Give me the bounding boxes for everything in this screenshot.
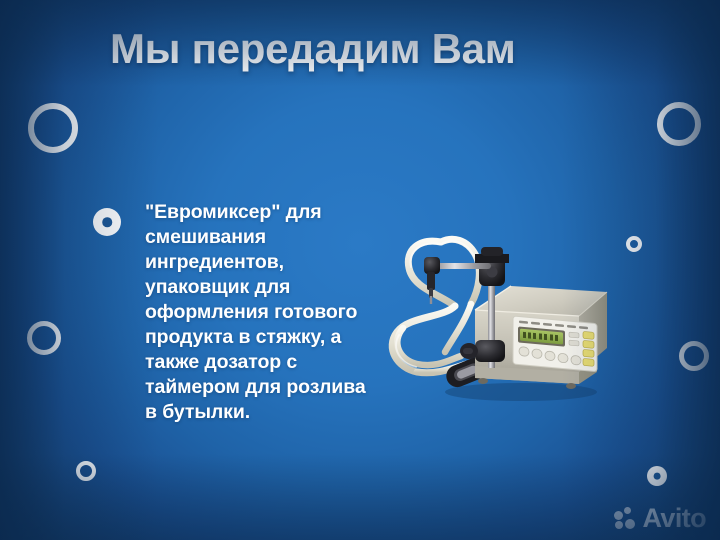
avito-wordmark: Avito xyxy=(643,505,707,532)
ring-right-middle-icon xyxy=(679,341,709,371)
ring-right-small-icon xyxy=(626,236,642,252)
bullet-dot-icon xyxy=(93,208,121,236)
ring-top-right-icon xyxy=(657,102,701,146)
avito-watermark: Avito xyxy=(614,505,707,532)
liquid-filling-machine-image xyxy=(383,232,608,410)
avito-listing-banner: Мы передадим Вам "Евромиксер" для смешив… xyxy=(0,0,720,540)
machine-illustration xyxy=(383,232,608,410)
control-panel[interactable] xyxy=(513,316,597,372)
avito-logo-icon xyxy=(614,507,638,531)
horizontal-arm xyxy=(435,263,491,269)
ring-left-middle-icon xyxy=(27,321,61,355)
lower-clamp[interactable] xyxy=(460,340,505,362)
ring-bottom-left-icon xyxy=(76,461,96,481)
banner-body-text: "Евромиксер" для смешивания ингредиентов… xyxy=(145,200,380,425)
ring-top-left-icon xyxy=(28,103,78,153)
dot-bottom-right-icon xyxy=(647,466,667,486)
banner-title: Мы передадим Вам xyxy=(110,27,515,71)
